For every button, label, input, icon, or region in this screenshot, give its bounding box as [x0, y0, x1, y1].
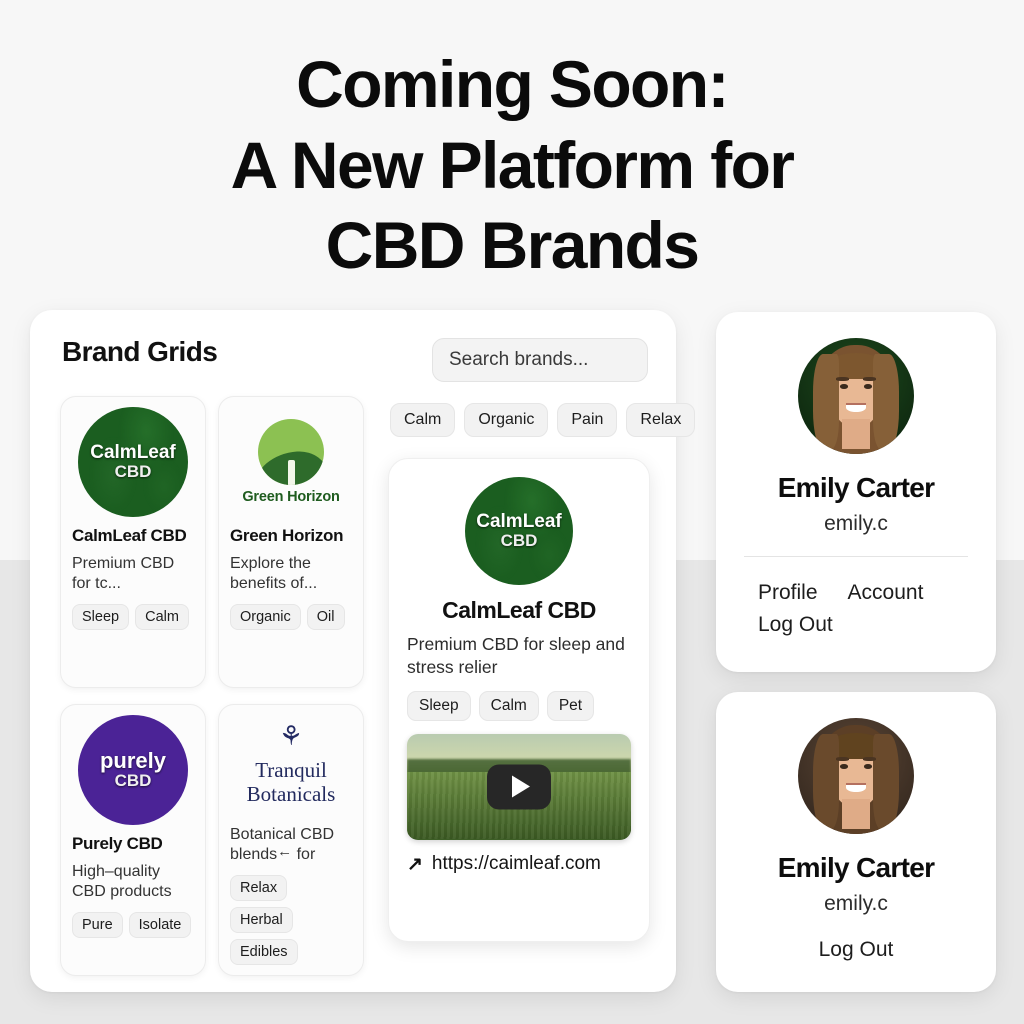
avatar-eye-left — [840, 384, 848, 389]
brand-tag-row: Organic Oil — [230, 604, 352, 630]
hero-line-3: CBD Brands — [0, 205, 1024, 286]
brand-card-tranquil-botanicals[interactable]: ⚘ Tranquil Botanicals Botanical CBD blen… — [218, 704, 364, 976]
brand-card-purely-cbd[interactable]: purely CBD Purely CBD High–quality CBD p… — [60, 704, 206, 976]
avatar-hair-left — [813, 734, 839, 829]
avatar-hair-left — [813, 354, 839, 449]
profile-name: Emily Carter — [716, 852, 996, 884]
brand-tag[interactable]: Edibles — [230, 939, 298, 965]
brand-tag[interactable]: Sleep — [72, 604, 129, 630]
avatar-neck — [842, 419, 870, 449]
brand-logo-wrap: purely CBD — [72, 715, 194, 825]
avatar-brow-left — [836, 757, 849, 760]
brand-tag-row: Sleep Calm — [72, 604, 194, 630]
divider — [744, 556, 968, 557]
detail-tag[interactable]: Calm — [479, 691, 539, 721]
avatar-brow-right — [863, 377, 876, 380]
filter-chip-organic[interactable]: Organic — [464, 403, 548, 437]
brand-desc: Botanical CBD blends← for — [230, 825, 352, 866]
avatar — [798, 338, 914, 454]
green-horizon-wordmark: Green Horizon — [230, 489, 352, 505]
cursor-arrow-icon: ← — [277, 842, 292, 861]
filter-chip-relax[interactable]: Relax — [626, 403, 695, 437]
trunk-shape — [288, 460, 295, 485]
profile-card-primary: Emily Carter emily.c Profile Account Log… — [716, 312, 996, 672]
profile-handle: emily.c — [716, 892, 996, 916]
logo-line-2: CBD — [115, 463, 152, 482]
calmleaf-logo-icon: CalmLeaf CBD — [78, 407, 188, 517]
tranquil-wordmark: Tranquil Botanicals — [230, 759, 352, 806]
brand-tag[interactable]: Calm — [135, 604, 189, 630]
video-thumbnail[interactable] — [407, 734, 631, 840]
profile-menu-item-logout[interactable]: Log Out — [716, 938, 996, 962]
profile-menu-item-profile[interactable]: Profile — [758, 581, 818, 605]
hero-line-1: Coming Soon: — [0, 44, 1024, 125]
brand-logo-wrap: CalmLeaf CBD — [72, 407, 194, 517]
brand-tag[interactable]: Oil — [307, 604, 345, 630]
avatar-brow-left — [836, 377, 849, 380]
calmleaf-logo-icon: CalmLeaf CBD — [465, 477, 573, 585]
brand-card-green-horizon[interactable]: Green Horizon Green Horizon Explore the … — [218, 396, 364, 688]
brand-tag-row: Pure Isolate — [72, 912, 194, 938]
wordmark-line-2: Botanicals — [247, 782, 336, 806]
avatar — [798, 718, 914, 834]
profile-name: Emily Carter — [716, 472, 996, 504]
avatar-brow-right — [863, 757, 876, 760]
play-triangle — [512, 776, 530, 798]
play-icon[interactable] — [487, 764, 551, 809]
brand-logo-wrap: ⚘ Tranquil Botanicals — [230, 715, 352, 815]
detail-brand-name: CalmLeaf CBD — [407, 597, 631, 624]
hero-line-2: A New Platform for — [0, 125, 1024, 206]
profile-card-secondary: Emily Carter emily.c Log Out — [716, 692, 996, 992]
brand-card-calmleaf[interactable]: CalmLeaf CBD CalmLeaf CBD Premium CBD fo… — [60, 396, 206, 688]
brand-logo-wrap: Green Horizon — [230, 407, 352, 517]
brand-tag[interactable]: Organic — [230, 604, 301, 630]
profile-handle: emily.c — [716, 512, 996, 536]
avatar-neck — [842, 799, 870, 829]
detail-url-row[interactable]: ↗ https://caimleaf.com — [407, 853, 631, 876]
brand-tag-row: Relax Herbal Edibles — [230, 875, 352, 965]
external-link-icon: ↗ — [407, 853, 423, 876]
logo-line-1: CalmLeaf — [90, 443, 176, 463]
brand-desc-part2: for — [297, 846, 316, 863]
brand-panel-header: Brand Grids — [30, 310, 676, 394]
detail-tag-row: Sleep Calm Pet — [407, 691, 631, 721]
brand-tag[interactable]: Herbal — [230, 907, 293, 933]
brand-desc: Premium CBD for tc... — [72, 554, 194, 595]
brand-name: Purely CBD — [72, 834, 194, 855]
purely-cbd-logo-icon: purely CBD — [78, 715, 188, 825]
brand-desc: High–quality CBD products — [72, 862, 194, 903]
filter-chip-pain[interactable]: Pain — [557, 403, 617, 437]
brand-detail-card: CalmLeaf CBD CalmLeaf CBD Premium CBD fo… — [388, 458, 650, 942]
filter-chip-calm[interactable]: Calm — [390, 403, 455, 437]
wordmark-line-1: Tranquil — [255, 758, 327, 782]
filter-chip-row: Calm Organic Pain Relax — [390, 403, 695, 437]
avatar-eye-left — [840, 764, 848, 769]
detail-url-text[interactable]: https://caimleaf.com — [432, 853, 601, 875]
profile-menu-item-logout[interactable]: Log Out — [758, 613, 996, 637]
detail-tag[interactable]: Pet — [547, 691, 594, 721]
brand-tag[interactable]: Relax — [230, 875, 287, 901]
brand-tag[interactable]: Pure — [72, 912, 123, 938]
logo-line-1: purely — [100, 749, 166, 772]
search-input[interactable] — [432, 338, 648, 382]
brand-name: Green Horizon — [230, 526, 352, 547]
detail-brand-desc: Premium CBD for sleep and stress relier — [407, 633, 631, 679]
brand-name: CalmLeaf CBD — [72, 526, 194, 547]
brand-desc: Explore the benefits of... — [230, 554, 352, 595]
brand-tag[interactable]: Isolate — [129, 912, 192, 938]
logo-line-2: CBD — [115, 772, 152, 791]
avatar-hair-right — [873, 354, 899, 449]
logo-line-1: CalmLeaf — [476, 512, 562, 532]
brand-grids-title: Brand Grids — [62, 336, 217, 368]
botanical-ornament-icon: ⚘ — [230, 723, 352, 757]
avatar-hair-right — [873, 734, 899, 829]
profile-menu-row: Profile Account — [758, 573, 996, 605]
profile-menu-item-account[interactable]: Account — [848, 581, 924, 605]
green-horizon-logo-icon — [258, 419, 324, 485]
page-title: Coming Soon: A New Platform for CBD Bran… — [0, 44, 1024, 286]
profile-menu: Profile Account Log Out — [758, 573, 996, 637]
logo-line-2: CBD — [501, 532, 538, 551]
detail-tag[interactable]: Sleep — [407, 691, 471, 721]
